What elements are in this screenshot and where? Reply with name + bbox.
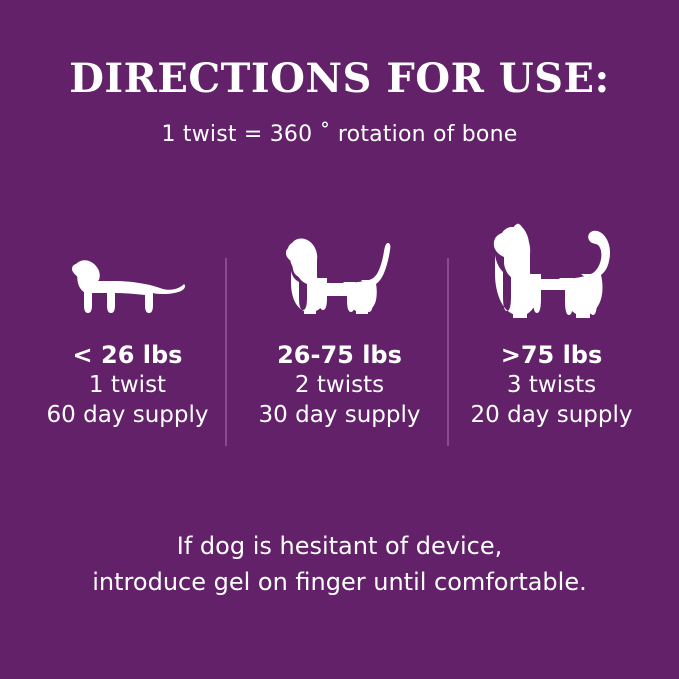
- dosage-labels: >75 lbs 3 twists 20 day supply: [471, 322, 633, 431]
- weight-range: 26-75 lbs: [259, 340, 421, 371]
- footer-note: If dog is hesitant of device, introduce …: [0, 528, 679, 600]
- dosage-labels: 26-75 lbs 2 twists 30 day supply: [259, 322, 421, 431]
- page-title: DIRECTIONS FOR USE:: [0, 58, 679, 100]
- terrier-dog-icon: [487, 212, 617, 322]
- header: DIRECTIONS FOR USE: 1 twist = 360 ˚ rota…: [0, 58, 679, 147]
- dosage-labels: < 26 lbs 1 twist 60 day supply: [47, 322, 209, 431]
- footer-line-2: introduce gel on finger until comfortabl…: [0, 564, 679, 600]
- beagle-dog-icon: [277, 212, 402, 322]
- dosage-column-small: < 26 lbs 1 twist 60 day supply: [22, 212, 234, 431]
- header-subtitle: 1 twist = 360 ˚ rotation of bone: [0, 100, 679, 147]
- dosage-column-medium: 26-75 lbs 2 twists 30 day supply: [234, 212, 446, 431]
- supply-duration: 30 day supply: [259, 401, 421, 431]
- supply-duration: 60 day supply: [47, 401, 209, 431]
- dosage-column-large: >75 lbs 3 twists 20 day supply: [446, 212, 658, 431]
- dosage-columns: < 26 lbs 1 twist 60 day supply 26-75 lbs: [0, 212, 679, 452]
- weight-range: < 26 lbs: [47, 340, 209, 371]
- dachshund-dog-icon: [63, 212, 193, 322]
- footer-line-1: If dog is hesitant of device,: [0, 528, 679, 564]
- twist-count: 3 twists: [471, 371, 633, 401]
- weight-range: >75 lbs: [471, 340, 633, 371]
- supply-duration: 20 day supply: [471, 401, 633, 431]
- directions-for-use-panel: DIRECTIONS FOR USE: 1 twist = 360 ˚ rota…: [0, 0, 679, 679]
- twist-count: 1 twist: [47, 371, 209, 401]
- twist-count: 2 twists: [259, 371, 421, 401]
